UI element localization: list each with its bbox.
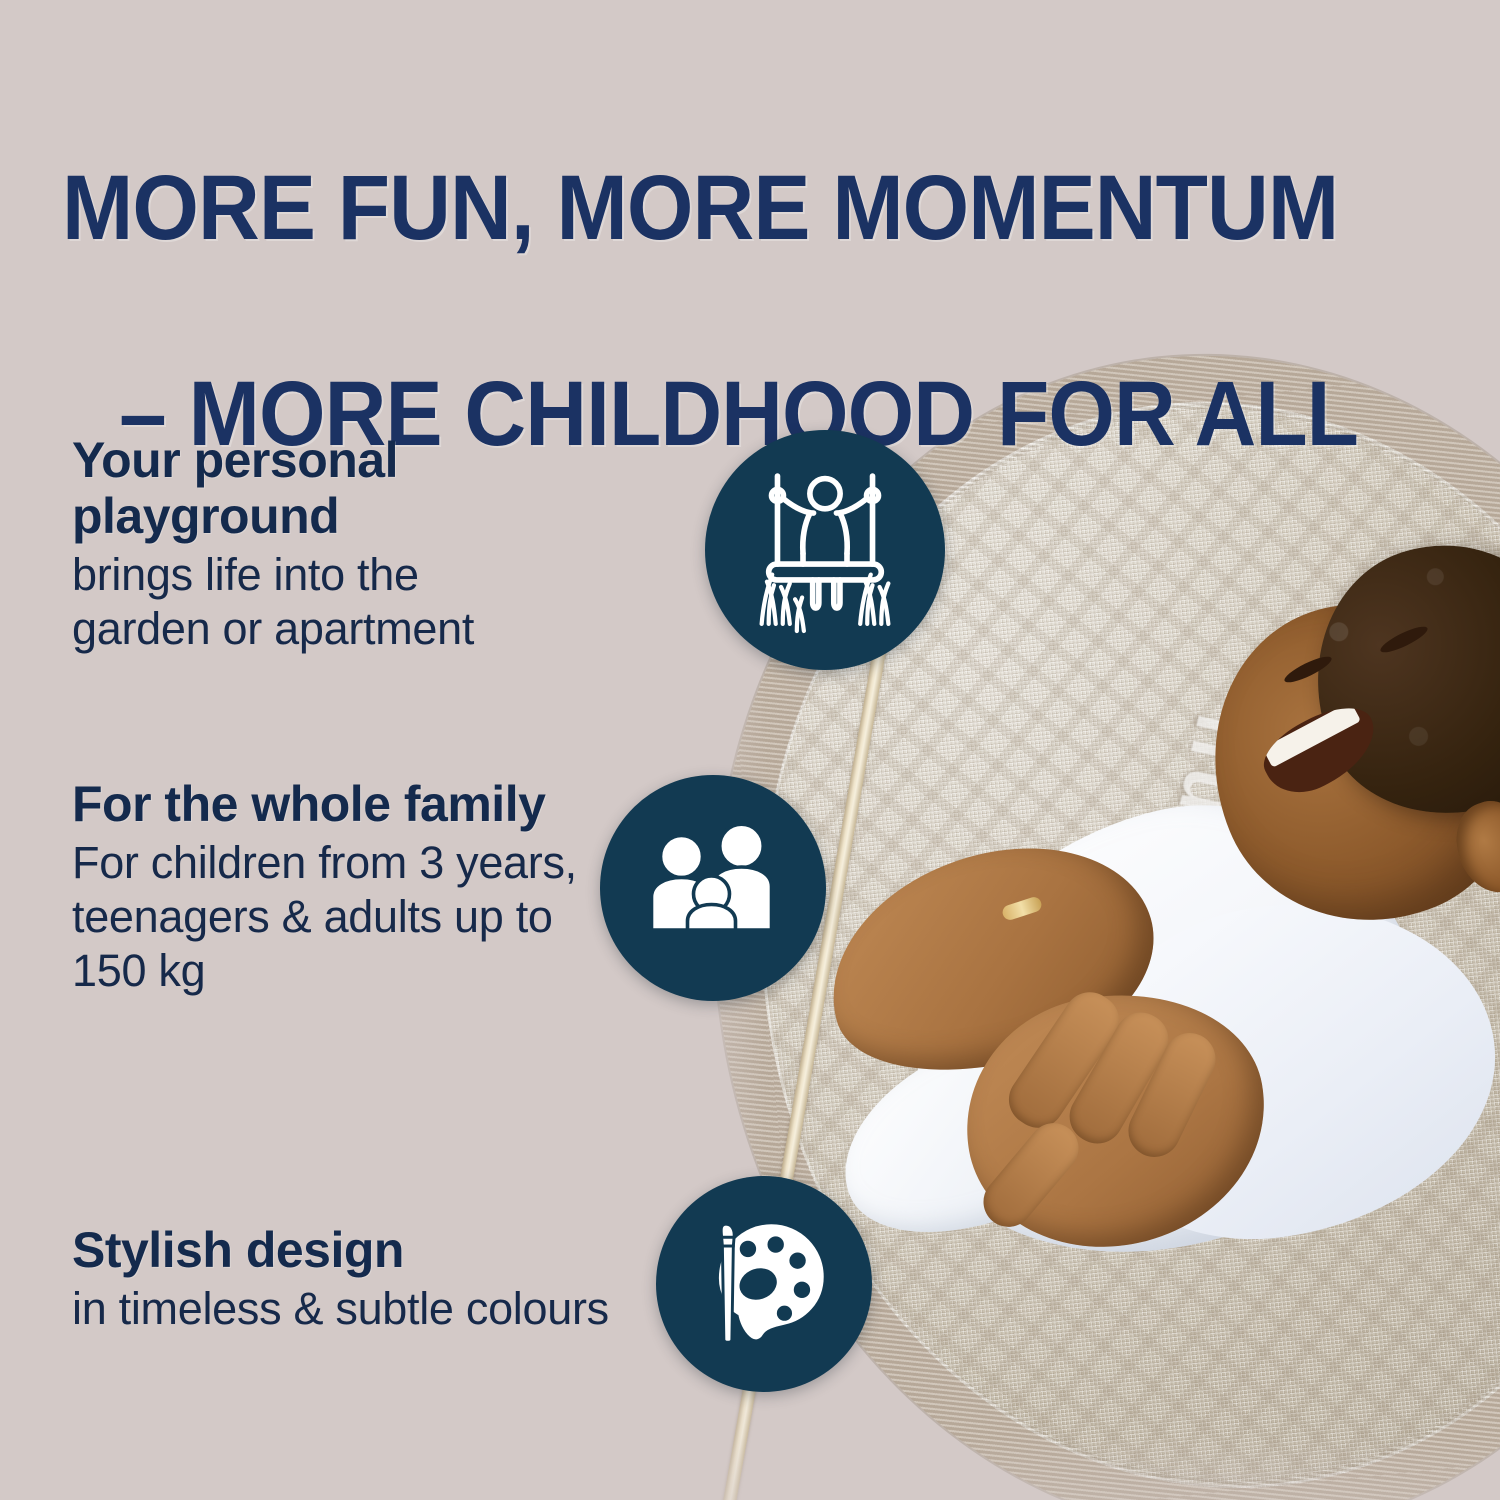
family-group-icon <box>638 813 788 963</box>
feature-personal-playground: Your personal playground brings life int… <box>72 432 592 656</box>
badge-personal-playground <box>705 430 945 670</box>
product-infographic: hudo MORE FUN, MORE MOMENTUM – MORE CHIL… <box>0 0 1500 1500</box>
feature-stylish-design: Stylish design in timeless & subtle colo… <box>72 1222 672 1336</box>
paint-palette-icon <box>691 1211 837 1357</box>
feature-title: For the whole family <box>72 776 632 832</box>
feature-title: Stylish design <box>72 1222 672 1278</box>
feature-title: Your personal playground <box>72 432 592 544</box>
badge-stylish-design <box>656 1176 872 1392</box>
headline-line-1: MORE FUN, MORE MOMENTUM <box>62 157 1364 260</box>
feature-body: in timeless & subtle colours <box>72 1282 672 1336</box>
feature-body: brings life into the garden or apartment <box>72 548 592 656</box>
badge-whole-family <box>600 775 826 1001</box>
feature-whole-family: For the whole family For children from 3… <box>72 776 632 998</box>
child-on-swing-icon <box>737 462 913 638</box>
feature-body: For children from 3 years, teenagers & a… <box>72 836 632 998</box>
